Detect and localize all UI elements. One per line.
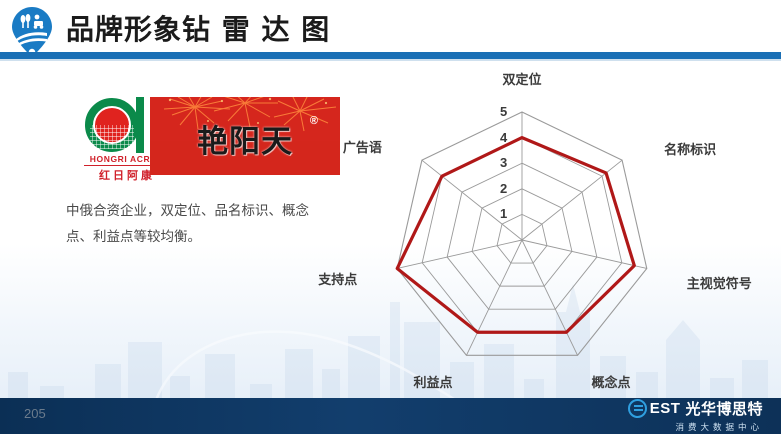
slide-canvas: 品牌形象钻 雷 达 图 HONGRI ACRON 红日阿康: [0, 0, 781, 434]
page-title: 品牌形象钻 雷 达 图: [66, 8, 330, 48]
radar-axis-label-0: 双定位: [502, 69, 541, 88]
slide-header: 品牌形象钻 雷 达 图: [0, 0, 781, 52]
best-brand-sub: 消费大数据中心: [628, 421, 763, 433]
radar-tick-label-1: 1: [500, 206, 507, 221]
header-accent-bar: [0, 52, 781, 59]
radar-axis-label-6: 广告语: [343, 137, 382, 156]
best-b-mark-icon: [628, 399, 647, 418]
radar-chart: 双定位名称标识主视觉符号概念点利益点支持点广告语 54321: [352, 78, 772, 378]
best-brand-en: EST: [650, 400, 681, 417]
best-brand-logo: EST 光华博思特 消费大数据中心: [628, 398, 763, 433]
best-brand-cn: 光华博思特: [685, 398, 763, 419]
radar-axis-label-1: 名称标识: [664, 139, 716, 158]
radar-axis-label-3: 概念点: [592, 372, 631, 391]
radar-tick-label-5: 5: [500, 104, 507, 119]
description-text: 中俄合资企业，双定位、品名标识、概念点、利益点等较均衡。: [66, 198, 316, 250]
registered-trademark-icon: ®: [310, 115, 318, 127]
radar-tick-label-4: 4: [500, 130, 507, 145]
logo-yanyangtian: 艳阳天 ®: [150, 97, 340, 175]
radar-axis-label-2: 主视觉符号: [687, 273, 752, 292]
radar-tick-label-2: 2: [500, 181, 507, 196]
radar-axis-label-5: 支持点: [318, 269, 357, 288]
location-pin-icon: [9, 6, 55, 58]
radar-tick-label-3: 3: [500, 155, 507, 170]
header-accent-bar-soft: [0, 59, 781, 61]
radar-axis-label-4: 利益点: [413, 372, 452, 391]
radar-chart-plot: [352, 78, 772, 378]
page-number: 205: [24, 406, 46, 421]
